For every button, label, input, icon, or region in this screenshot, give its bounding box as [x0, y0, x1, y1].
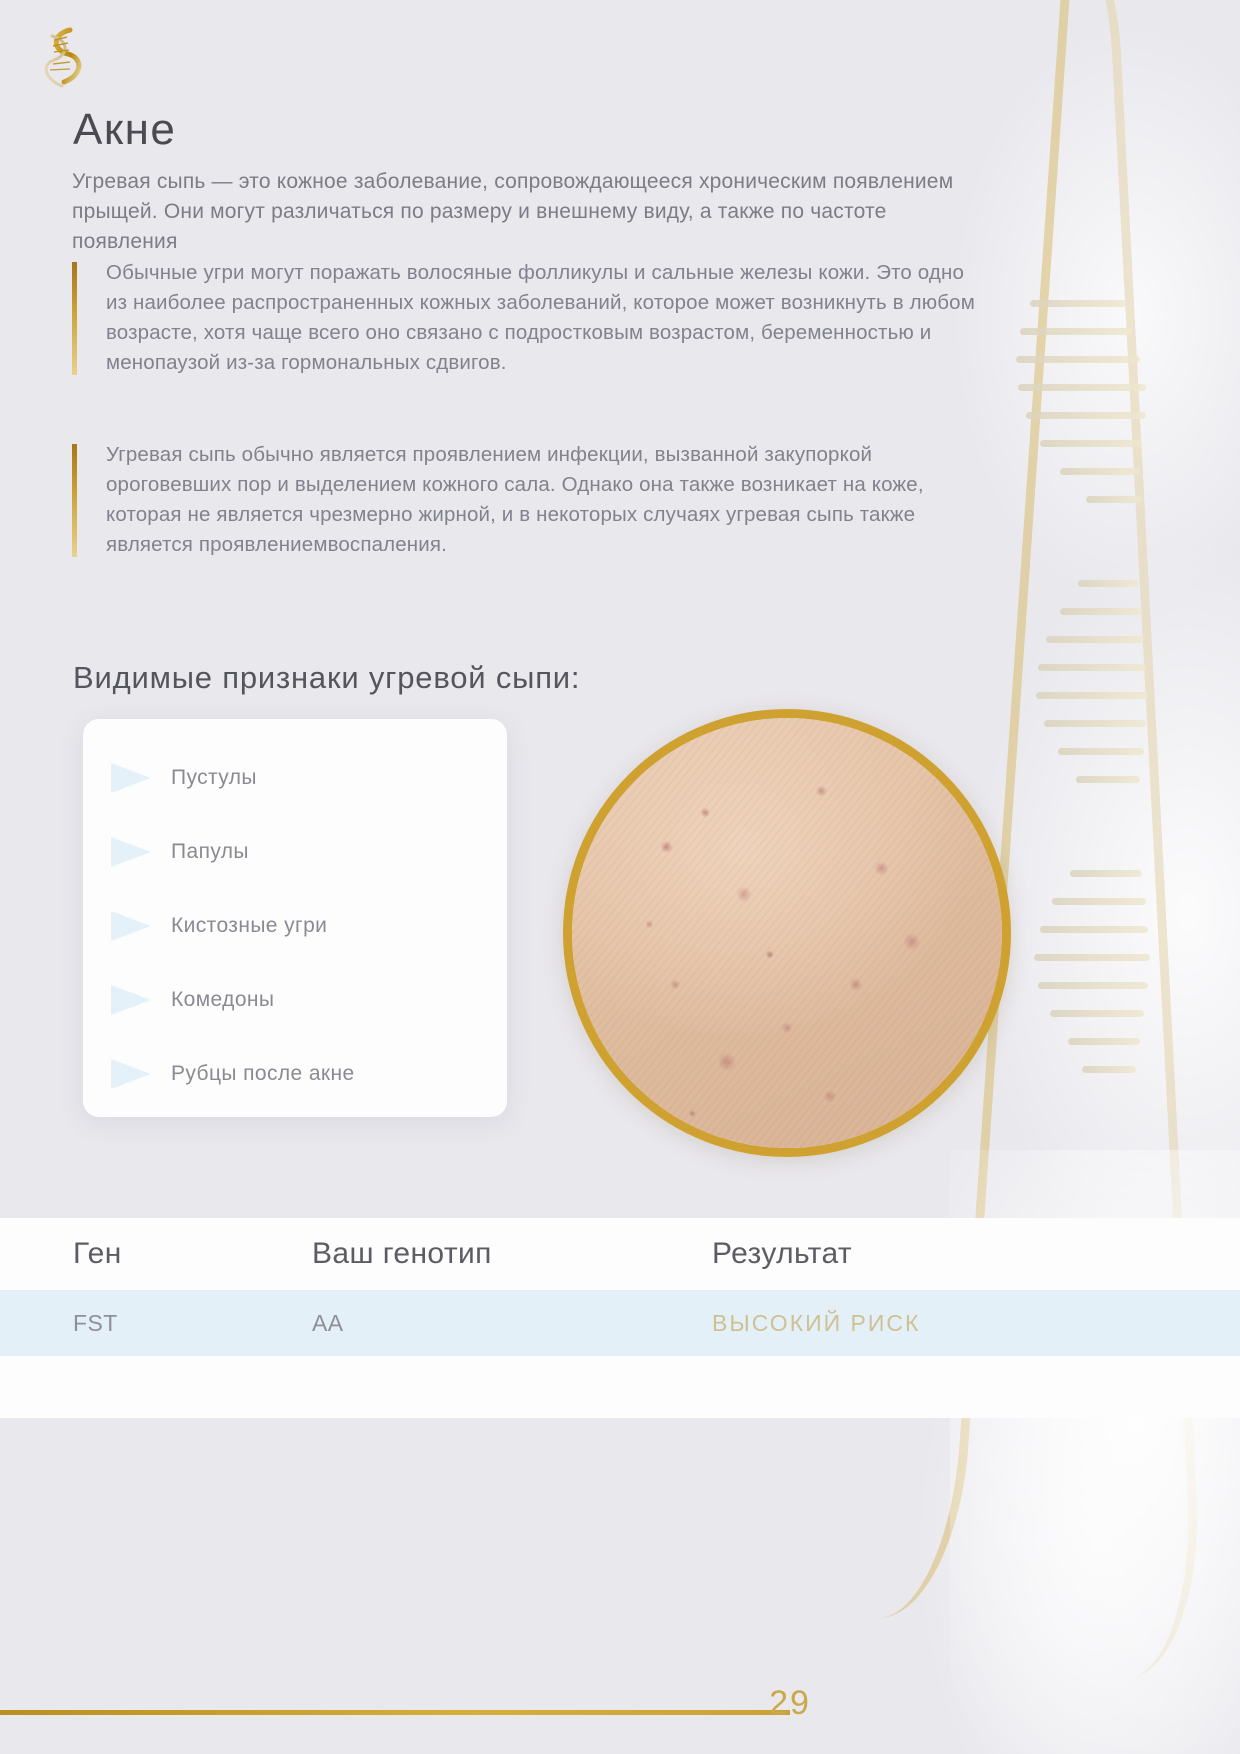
column-header-gene: Ген — [0, 1237, 312, 1271]
section-heading-visible-signs: Видимые признаки угревой сыпи: — [73, 660, 580, 696]
triangle-right-icon — [111, 837, 151, 867]
skin-photo-texture — [572, 718, 1002, 1148]
symptom-list: Пустулы Папулы Кистозные угри Комедоны Р… — [83, 741, 507, 1111]
triangle-right-icon — [111, 1059, 151, 1089]
triangle-right-icon — [111, 911, 151, 941]
quote-block-2: Угревая сыпь обычно является проявлением… — [72, 440, 986, 561]
list-item: Пустулы — [83, 741, 507, 815]
triangle-right-icon — [111, 985, 151, 1015]
page-title: Акне — [73, 105, 176, 155]
column-header-genotype: Ваш генотип — [312, 1237, 712, 1271]
symptom-label: Пустулы — [171, 766, 257, 790]
genotype-results-table: Ген Ваш генотип Результат FST AA ВЫСОКИЙ… — [0, 1218, 1240, 1418]
triangle-right-icon — [111, 763, 151, 793]
symptom-label: Папулы — [171, 840, 249, 864]
cell-genotype: AA — [312, 1310, 712, 1337]
symptom-label: Рубцы после акне — [171, 1062, 355, 1086]
symptom-label: Комедоны — [171, 988, 274, 1012]
list-item: Комедоны — [83, 963, 507, 1037]
quote-block-1: Обычные угри могут поражать волосяные фо… — [72, 258, 986, 379]
table-header-row: Ген Ваш генотип Результат — [0, 1218, 1240, 1290]
list-item: Папулы — [83, 815, 507, 889]
column-header-result: Результат — [712, 1237, 1240, 1271]
list-item: Кистозные угри — [83, 889, 507, 963]
dna-helix-logo — [40, 24, 88, 94]
page-number: 29 — [735, 1684, 845, 1723]
cell-result-status: ВЫСОКИЙ РИСК — [712, 1310, 1240, 1337]
table-footer-spacer — [0, 1356, 1240, 1418]
cell-gene: FST — [0, 1310, 312, 1337]
symptom-list-card: Пустулы Папулы Кистозные угри Комедоны Р… — [83, 719, 507, 1117]
footer-divider — [0, 1710, 790, 1715]
table-row: FST AA ВЫСОКИЙ РИСК — [0, 1290, 1240, 1356]
list-item: Рубцы после акне — [83, 1037, 507, 1111]
acne-skin-photo — [563, 709, 1011, 1157]
symptom-label: Кистозные угри — [171, 914, 327, 938]
intro-paragraph: Угревая сыпь — это кожное заболевание, с… — [72, 167, 962, 256]
